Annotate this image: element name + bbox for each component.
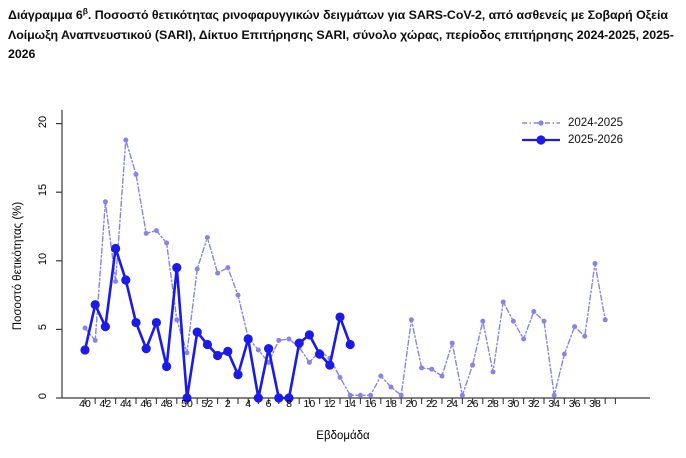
data-point-2024-2025	[511, 319, 516, 324]
data-point-2024-2025	[358, 393, 363, 398]
data-point-2025-2026	[91, 300, 100, 309]
data-point-2025-2026	[213, 351, 222, 360]
data-point-2024-2025	[440, 374, 445, 379]
data-point-2024-2025	[491, 369, 496, 374]
data-point-2025-2026	[233, 370, 242, 379]
y-tick-label: 0	[37, 381, 49, 411]
data-point-2024-2025	[419, 365, 424, 370]
data-point-2024-2025	[103, 199, 108, 204]
data-point-2025-2026	[264, 344, 273, 353]
data-point-2024-2025	[287, 337, 292, 342]
data-point-2024-2025	[531, 309, 536, 314]
data-point-2025-2026	[121, 275, 130, 284]
data-point-2024-2025	[185, 350, 190, 355]
data-point-2024-2025	[144, 231, 149, 236]
data-point-2025-2026	[223, 347, 232, 356]
data-point-2025-2026	[131, 318, 140, 327]
data-point-2024-2025	[480, 319, 485, 324]
x-axis-title: Εβδομάδα	[0, 430, 686, 442]
data-point-2024-2025	[409, 317, 414, 322]
data-point-2025-2026	[305, 330, 314, 339]
data-point-2024-2025	[450, 341, 455, 346]
data-point-2024-2025	[521, 337, 526, 342]
data-point-2024-2025	[195, 267, 200, 272]
data-point-2025-2026	[193, 328, 202, 337]
x-tick-label: 38	[582, 398, 608, 410]
legend-label-1: 2025-2026	[568, 134, 623, 146]
data-point-2025-2026	[315, 350, 324, 359]
data-point-2024-2025	[205, 235, 210, 240]
data-point-2024-2025	[154, 228, 159, 233]
y-tick-label: 10	[37, 244, 49, 274]
data-point-2024-2025	[83, 326, 88, 331]
data-point-2024-2025	[113, 279, 118, 284]
chart-container: Ποσοστό θετικότητας (%) Εβδομάδα 0510152…	[0, 92, 686, 458]
page-title: Διάγραμμα 6β. Ποσοστό θετικότητας ρινοφα…	[8, 6, 676, 65]
data-point-2025-2026	[142, 344, 151, 353]
data-point-2024-2025	[399, 393, 404, 398]
data-point-2024-2025	[582, 334, 587, 339]
data-point-2025-2026	[172, 263, 181, 272]
data-point-2024-2025	[572, 324, 577, 329]
y-tick-label: 20	[37, 107, 49, 137]
data-point-2025-2026	[101, 322, 110, 331]
data-point-2024-2025	[460, 393, 465, 398]
data-point-2025-2026	[335, 312, 344, 321]
data-point-2024-2025	[603, 317, 608, 322]
data-point-2024-2025	[552, 393, 557, 398]
data-point-2024-2025	[501, 299, 506, 304]
data-point-2024-2025	[368, 393, 373, 398]
data-point-2024-2025	[215, 271, 220, 276]
data-point-2025-2026	[152, 318, 161, 327]
data-point-2025-2026	[244, 334, 253, 343]
data-point-2024-2025	[174, 317, 179, 322]
y-tick-label: 15	[37, 175, 49, 205]
data-point-2024-2025	[225, 265, 230, 270]
data-point-2024-2025	[164, 240, 169, 245]
data-point-2025-2026	[111, 244, 120, 253]
data-point-2024-2025	[276, 338, 281, 343]
legend-label-0: 2024-2025	[568, 117, 623, 129]
data-point-2025-2026	[295, 339, 304, 348]
data-point-2024-2025	[470, 363, 475, 368]
data-point-2024-2025	[542, 319, 547, 324]
data-point-2024-2025	[236, 293, 241, 298]
legend-item-2025-2026: 2025-2026	[520, 131, 680, 148]
data-point-2024-2025	[307, 360, 312, 365]
data-point-2024-2025	[338, 375, 343, 380]
data-point-2024-2025	[593, 261, 598, 266]
data-point-2024-2025	[348, 393, 353, 398]
data-point-2025-2026	[80, 345, 89, 354]
y-tick-label: 5	[37, 312, 49, 342]
data-point-2024-2025	[429, 367, 434, 372]
series-line-2024-2025	[85, 140, 605, 395]
data-point-2024-2025	[389, 385, 394, 390]
figure-title-rest: . Ποσοστό θετικότητας ρινοφαρυγγικών δει…	[8, 8, 674, 61]
data-point-2024-2025	[256, 347, 261, 352]
data-point-2024-2025	[378, 374, 383, 379]
data-point-2025-2026	[203, 340, 212, 349]
data-point-2024-2025	[93, 338, 98, 343]
data-point-2024-2025	[562, 352, 567, 357]
chart-legend: 2024-2025 2025-2026	[520, 114, 680, 148]
y-axis-title: Ποσοστό θετικότητας (%)	[12, 186, 24, 346]
data-point-2025-2026	[325, 360, 334, 369]
data-point-2024-2025	[134, 172, 139, 177]
data-point-2024-2025	[123, 138, 128, 143]
figure-title-prefix: Διάγραμμα 6	[8, 8, 83, 22]
data-point-2025-2026	[346, 340, 355, 349]
legend-key-solid-icon	[520, 132, 562, 148]
legend-item-2024-2025: 2024-2025	[520, 114, 680, 131]
data-point-2025-2026	[162, 362, 171, 371]
legend-key-dashed-icon	[520, 115, 562, 131]
